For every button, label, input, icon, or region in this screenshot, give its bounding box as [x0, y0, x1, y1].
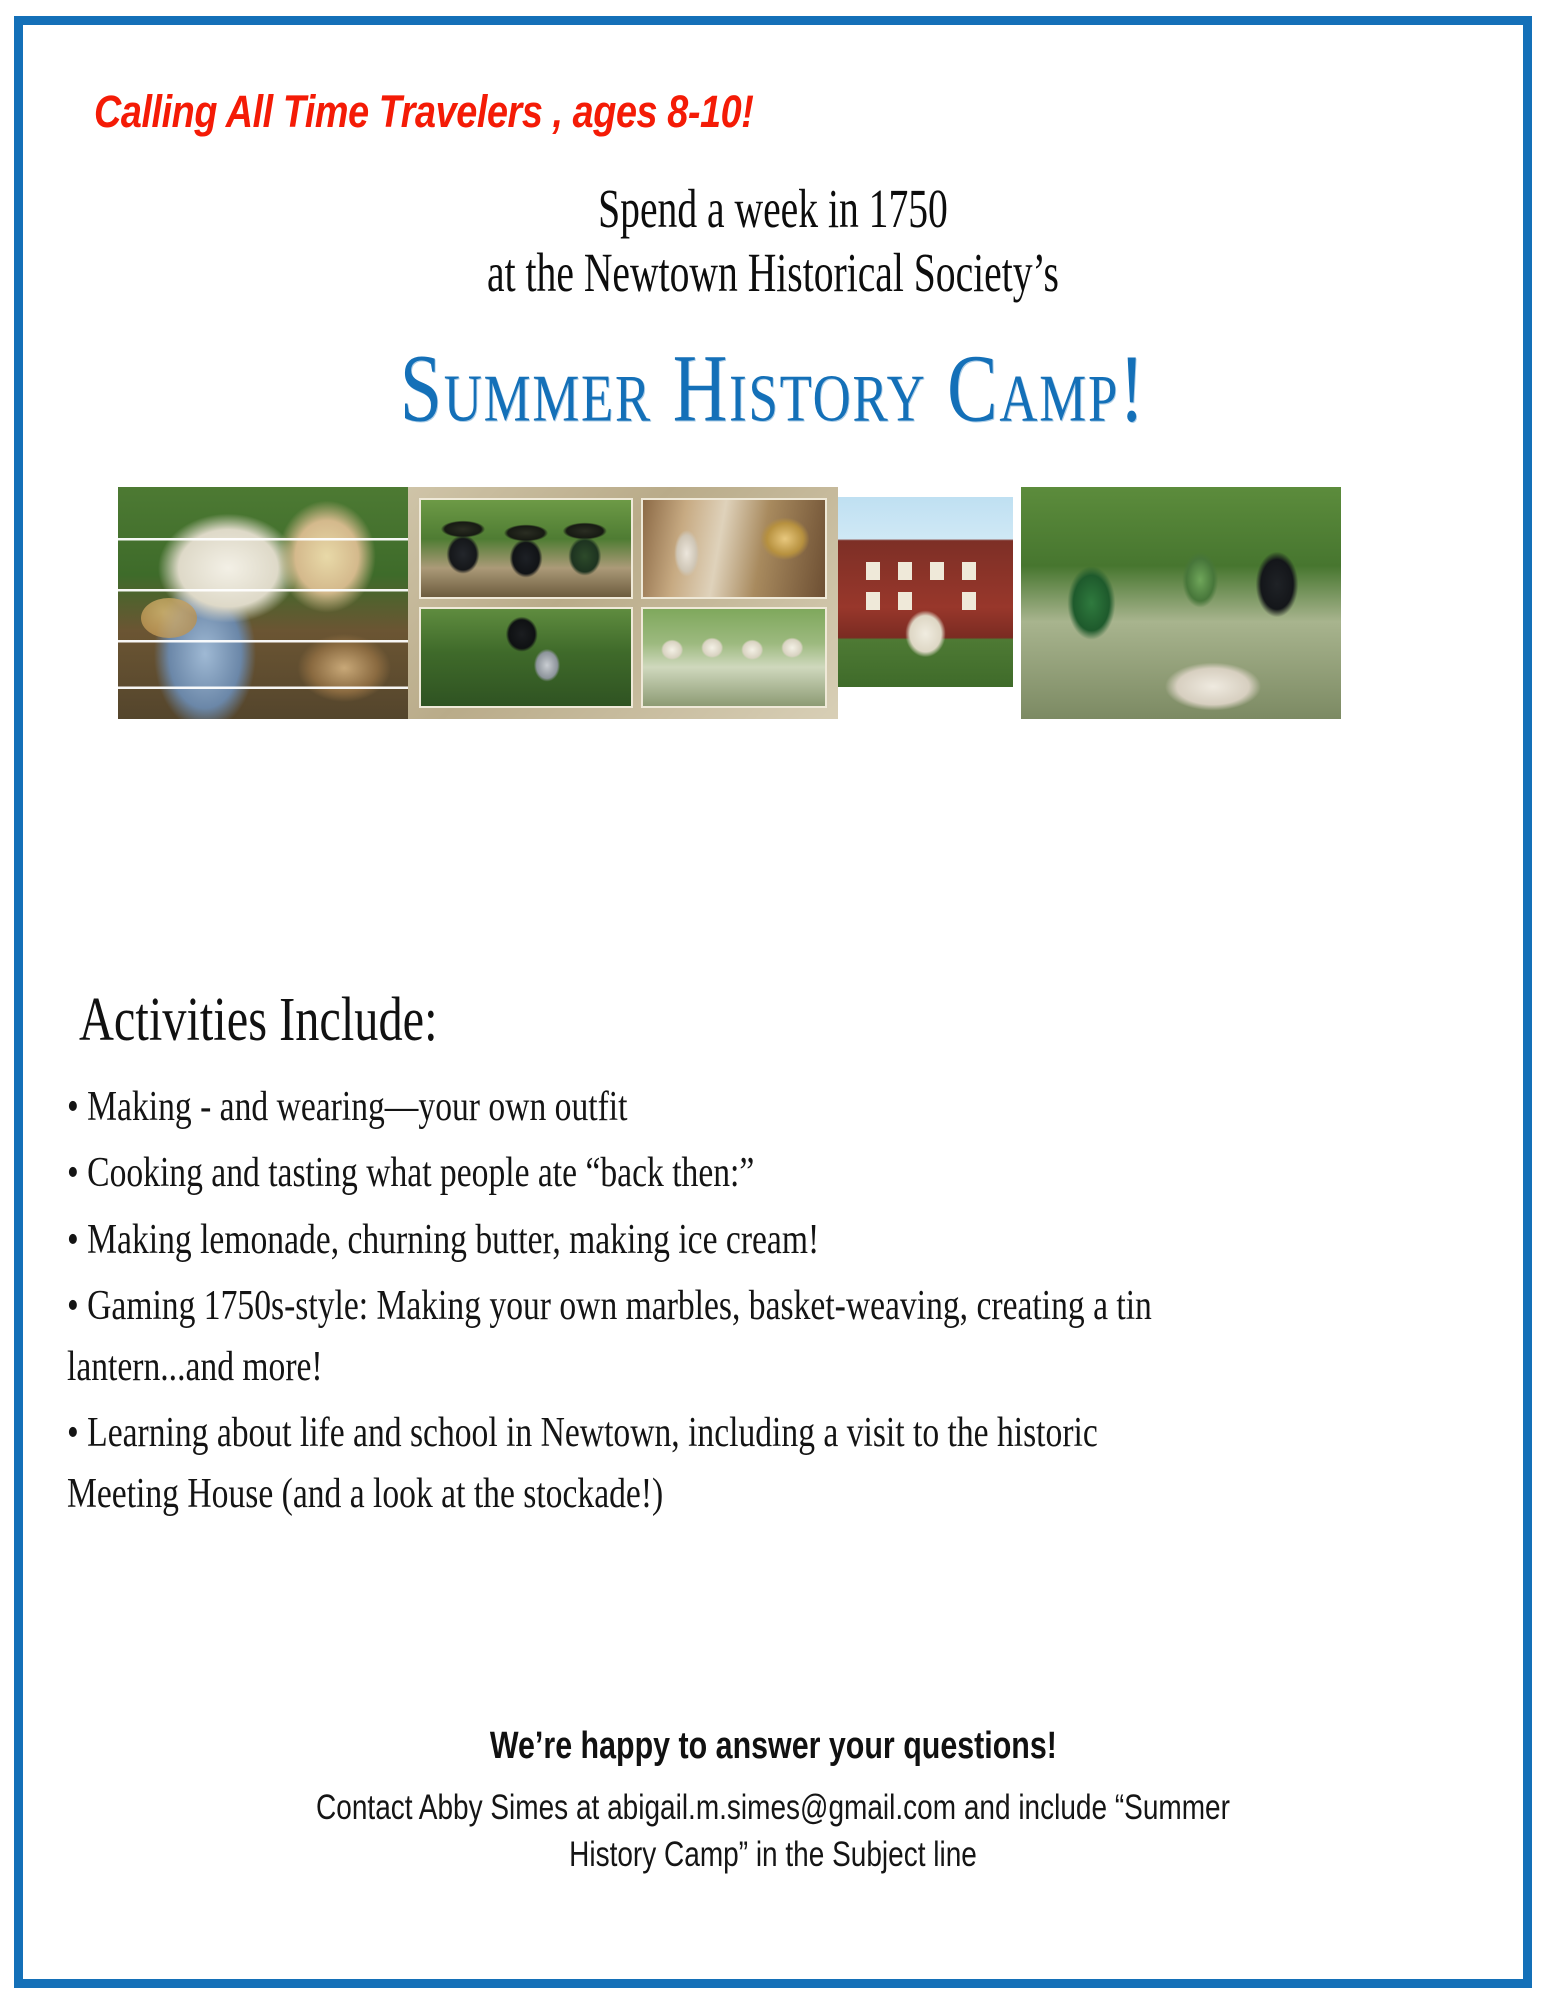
photo-children-painting [1021, 487, 1341, 719]
subtitle-line-2: at the Newtown Historical Society’s [257, 241, 1288, 306]
footer-headline: We’re happy to answer your questions! [489, 1725, 1056, 1768]
footer-contact-line-2: History Camp” in the Subject line [173, 1831, 1373, 1878]
headline-calling-time-travelers: Calling All Time Travelers , ages 8-10! [57, 87, 1260, 137]
subtitle-line-1: Spend a week in 1750 [257, 177, 1288, 242]
subtitle-block: Spend a week in 1750 at the Newtown Hist… [257, 177, 1288, 307]
activity-item: • Making - and wearing—your own outfit [67, 1077, 1203, 1137]
photo-collage-kids-writing [419, 498, 633, 599]
flyer-border-frame: Calling All Time Travelers , ages 8-10! … [14, 16, 1532, 1988]
photo-collage-tin-lantern [419, 607, 633, 708]
photo-collage-strip [118, 487, 1463, 727]
photo-collage-indoor-room [641, 498, 827, 599]
activity-item: • Gaming 1750s-style: Making your own ma… [67, 1276, 1203, 1397]
activity-item: • Making lemonade, churning butter, maki… [67, 1210, 1203, 1270]
page-title-summer-history-camp: Summer History Camp! [143, 332, 1403, 444]
photo-children-basket-weaving [118, 487, 408, 719]
footer-contact-line-1: Contact Abby Simes at abigail.m.simes@gm… [173, 1784, 1373, 1831]
activity-item: • Cooking and tasting what people ate “b… [67, 1143, 1203, 1203]
photo-historic-red-house [838, 497, 1013, 687]
activities-heading: Activities Include: [79, 985, 438, 1056]
footer-contact-block: We’re happy to answer your questions! Co… [23, 1725, 1523, 1879]
footer-contact-text: Contact Abby Simes at abigail.m.simes@gm… [173, 1784, 1373, 1879]
activities-list: • Making - and wearing—your own outfit •… [67, 1077, 1203, 1530]
photo-collage-group-bonnets [641, 607, 827, 708]
activity-item: • Learning about life and school in Newt… [67, 1403, 1203, 1524]
photo-collage-center [408, 487, 838, 719]
